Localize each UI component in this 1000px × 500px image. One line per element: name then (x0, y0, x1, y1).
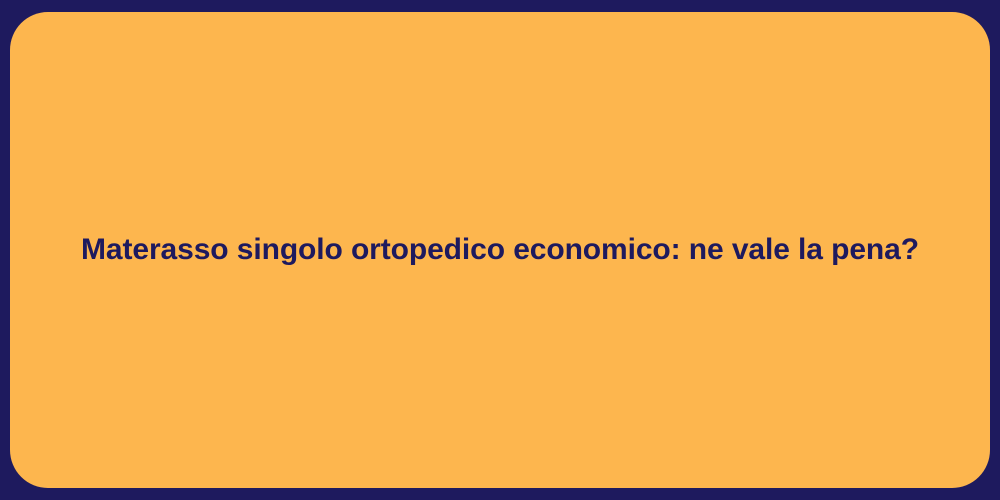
banner-card: Materasso singolo ortopedico economico: … (10, 12, 990, 488)
banner-title: Materasso singolo ortopedico economico: … (81, 231, 919, 269)
banner-frame: Materasso singolo ortopedico economico: … (0, 0, 1000, 500)
